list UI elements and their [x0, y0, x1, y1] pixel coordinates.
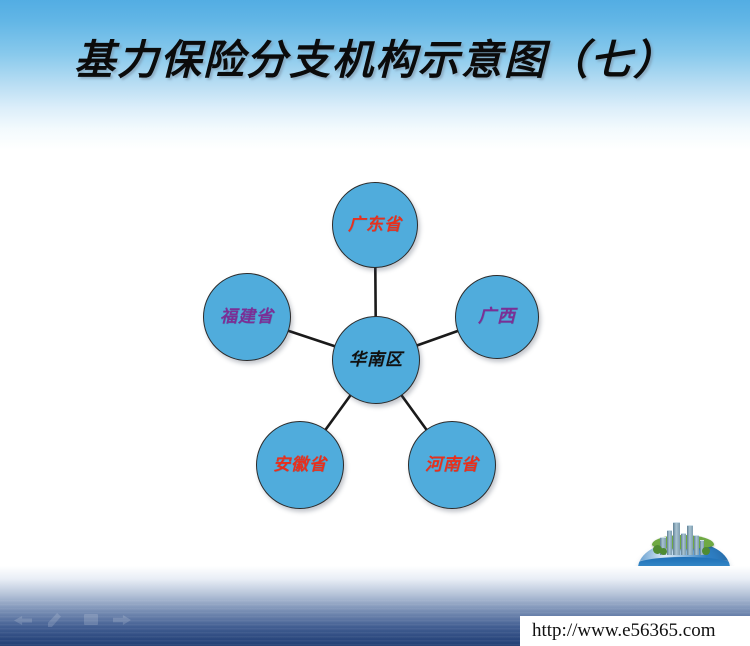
- url-watermark-strip: http://www.e56365.com: [520, 616, 750, 646]
- diagram-edge-3: [417, 331, 459, 346]
- diagram-node-label: 福建省: [220, 309, 274, 326]
- diagram-node-5[interactable]: 河南省: [408, 421, 496, 509]
- note-watermark-icon: [84, 614, 98, 625]
- diagram-node-label: 广东省: [348, 217, 402, 234]
- diagram-node-1[interactable]: 广东省: [332, 182, 418, 268]
- diagram-node-4[interactable]: 安徽省: [256, 421, 344, 509]
- diagram-node-label: 河南省: [425, 457, 479, 474]
- diagram-node-3[interactable]: 广西: [455, 275, 539, 359]
- diagram-edge-4: [325, 395, 351, 430]
- diagram-node-label: 华南区: [349, 352, 403, 369]
- tree-icon-3: [702, 547, 710, 555]
- diagram-node-2[interactable]: 福建省: [203, 273, 291, 361]
- diagram-edge-5: [401, 395, 427, 430]
- tree-icon-2: [660, 548, 667, 555]
- site-url-text: http://www.e56365.com: [520, 620, 715, 642]
- diagram-edge-2: [288, 331, 335, 347]
- slide-canvas: 基力保险分支机构示意图（七） 华南区广东省福建省广西安徽省河南省: [0, 0, 750, 646]
- diagram-node-center[interactable]: 华南区: [332, 316, 420, 404]
- diagram-node-label: 安徽省: [273, 457, 327, 474]
- diagram-node-label: 广西: [478, 308, 516, 326]
